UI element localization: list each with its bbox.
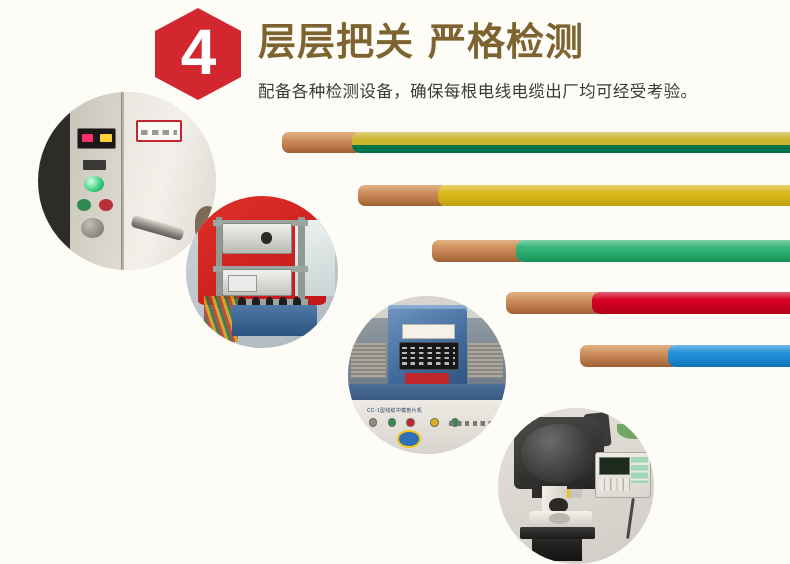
copper-conductor [432,240,522,262]
copper-conductor [506,292,598,314]
photo-optical-projector [498,408,654,564]
title-part-2: 严格检测 [428,22,584,64]
photo-cable-slicing-machine: CC-1型线缆冲模剖片机 [348,296,506,454]
wire-sheath [516,240,790,262]
wire-sheath [438,185,790,206]
copper-conductor [580,345,674,367]
green-wire [432,240,790,262]
step-number-badge: 4 [155,8,241,100]
wire-sheath [352,132,790,153]
copper-conductor [282,132,358,153]
step-number: 4 [181,20,216,84]
promo-section: 4 层层把关严格检测 配备各种检测设备，确保每根电线电缆出厂均可经受考验。 [0,0,790,564]
yellow-green-wire [282,132,790,153]
page-title: 层层把关严格检测 [258,22,584,66]
title-part-1: 层层把关 [258,22,414,64]
blue-wire [580,345,790,367]
red-wire [506,292,790,314]
wire-sheath [668,345,790,367]
yellow-wire [358,185,790,206]
wire-sheath [592,292,790,314]
page-subtitle: 配备各种检测设备，确保每根电线电缆出厂均可经受考验。 [258,78,697,102]
photo-hv-test-rack [186,196,338,348]
machine-label: CC-1型线缆冲模剖片机 [367,407,422,414]
copper-conductor [358,185,444,206]
